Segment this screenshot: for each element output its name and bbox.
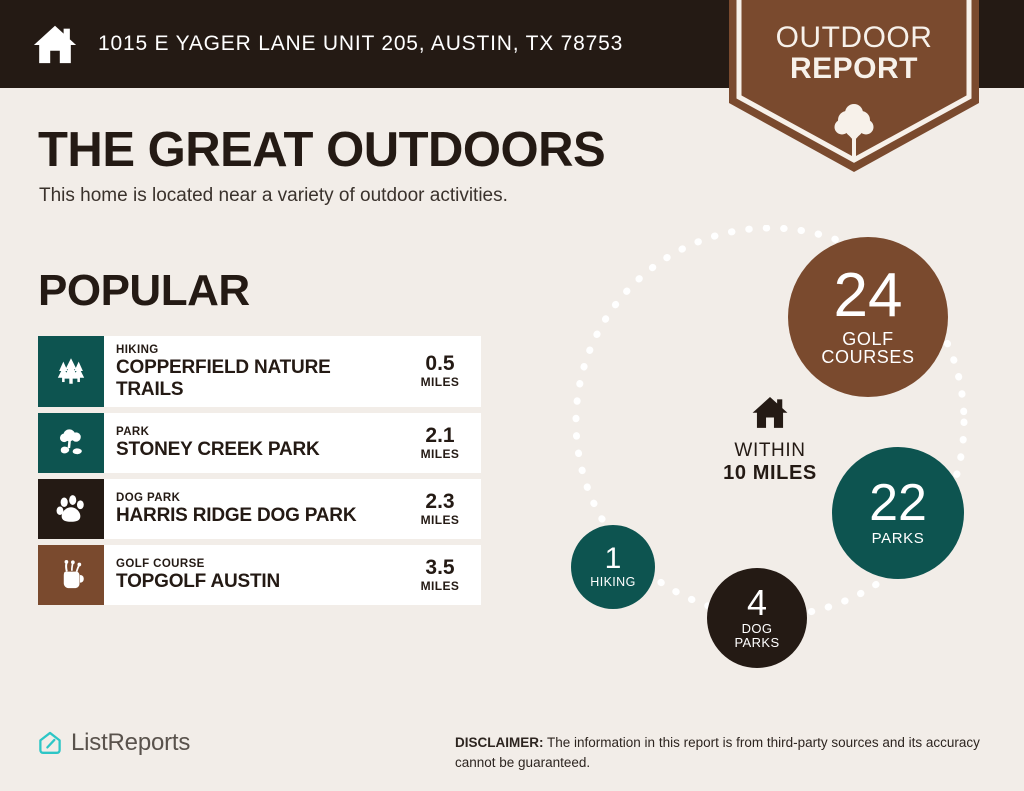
- listreports-logo-text: ListReports: [71, 729, 190, 757]
- outdoor-bubble-chart: WITHIN 10 MILES 24 GOLF COURSES 22 PARKS…: [530, 225, 1000, 680]
- home-icon: [751, 393, 789, 431]
- list-item-distance: 2.3 MILES: [403, 479, 481, 539]
- bubble-dog-parks-label: DOG PARKS: [734, 622, 779, 649]
- bubble-golf-courses-count: 24: [834, 267, 903, 326]
- list-item-body: DOG PARK HARRIS RIDGE DOG PARK: [104, 479, 403, 539]
- bubble-golf-courses[interactable]: 24 GOLF COURSES: [788, 237, 948, 397]
- bubble-golf-courses-label-line1: GOLF: [821, 330, 914, 349]
- list-item-category: PARK: [116, 425, 399, 439]
- disclaimer: DISCLAIMER: The information in this repo…: [455, 733, 995, 772]
- pine-trees-icon: [54, 354, 88, 388]
- list-item-distance-value: 3.5: [425, 557, 454, 579]
- chart-center-line2: 10 MILES: [690, 462, 850, 485]
- list-item-distance: 0.5 MILES: [403, 336, 481, 407]
- list-item-category: HIKING: [116, 343, 399, 357]
- list-item[interactable]: DOG PARK HARRIS RIDGE DOG PARK 2.3 MILES: [38, 479, 481, 539]
- list-item-name: COPPERFIELD NATURE TRAILS: [116, 357, 399, 400]
- list-item-name: STONEY CREEK PARK: [116, 439, 399, 460]
- chart-center-line1: WITHIN: [690, 440, 850, 462]
- golf-bag-icon: [54, 558, 88, 592]
- popular-list: HIKING COPPERFIELD NATURE TRAILS 0.5 MIL…: [38, 336, 481, 611]
- list-item-distance-unit: MILES: [421, 513, 460, 527]
- list-item-name: TOPGOLF AUSTIN: [116, 571, 399, 592]
- page-subtitle: This home is located near a variety of o…: [39, 185, 508, 207]
- bubble-dog-parks-count: 4: [747, 586, 767, 620]
- page-title: THE GREAT OUTDOORS: [38, 122, 605, 178]
- list-item-icon-tile: [38, 545, 104, 605]
- list-item-icon-tile: [38, 336, 104, 407]
- bubble-parks-label: PARKS: [872, 531, 925, 547]
- list-item[interactable]: HIKING COPPERFIELD NATURE TRAILS 0.5 MIL…: [38, 336, 481, 407]
- section-title-popular: POPULAR: [38, 266, 250, 316]
- park-tree-icon: [54, 426, 88, 460]
- bubble-hiking-label: HIKING: [590, 576, 635, 589]
- list-item-distance-unit: MILES: [421, 375, 460, 389]
- list-item[interactable]: PARK STONEY CREEK PARK 2.1 MILES: [38, 413, 481, 473]
- list-item-icon-tile: [38, 413, 104, 473]
- list-item-distance-value: 2.3: [425, 491, 454, 513]
- list-item-icon-tile: [38, 479, 104, 539]
- bubble-golf-courses-label-line2: COURSES: [821, 348, 914, 367]
- listreports-house-logo-icon: [36, 729, 64, 757]
- bubble-hiking[interactable]: 1 HIKING: [571, 525, 655, 609]
- list-item-category: GOLF COURSE: [116, 557, 399, 571]
- list-item-distance-unit: MILES: [421, 579, 460, 593]
- bubble-golf-courses-label: GOLF COURSES: [821, 330, 914, 368]
- outdoor-report-badge: OUTDOOR REPORT: [729, 0, 979, 172]
- list-item-distance-unit: MILES: [421, 447, 460, 461]
- bubble-parks-count: 22: [869, 479, 927, 528]
- tree-icon: [834, 104, 874, 160]
- list-item-distance: 2.1 MILES: [403, 413, 481, 473]
- bubble-dog-parks-label-line2: PARKS: [734, 636, 779, 650]
- list-item[interactable]: GOLF COURSE TOPGOLF AUSTIN 3.5 MILES: [38, 545, 481, 605]
- list-item-category: DOG PARK: [116, 491, 399, 505]
- list-item-body: PARK STONEY CREEK PARK: [104, 413, 403, 473]
- list-item-body: GOLF COURSE TOPGOLF AUSTIN: [104, 545, 403, 605]
- list-item-name: HARRIS RIDGE DOG PARK: [116, 505, 399, 526]
- chart-center-label: WITHIN 10 MILES: [690, 393, 850, 485]
- list-item-body: HIKING COPPERFIELD NATURE TRAILS: [104, 336, 403, 407]
- property-address: 1015 E YAGER LANE UNIT 205, AUSTIN, TX 7…: [98, 32, 623, 56]
- list-item-distance: 3.5 MILES: [403, 545, 481, 605]
- disclaimer-label: DISCLAIMER:: [455, 735, 544, 750]
- bubble-hiking-count: 1: [605, 545, 622, 574]
- home-icon: [32, 21, 78, 67]
- list-item-distance-value: 0.5: [425, 353, 454, 375]
- bubble-parks[interactable]: 22 PARKS: [832, 447, 964, 579]
- paw-print-icon: [54, 492, 88, 526]
- listreports-logo[interactable]: ListReports: [36, 729, 190, 757]
- bubble-dog-parks[interactable]: 4 DOG PARKS: [707, 568, 807, 668]
- bubble-dog-parks-label-line1: DOG: [734, 622, 779, 636]
- list-item-distance-value: 2.1: [425, 425, 454, 447]
